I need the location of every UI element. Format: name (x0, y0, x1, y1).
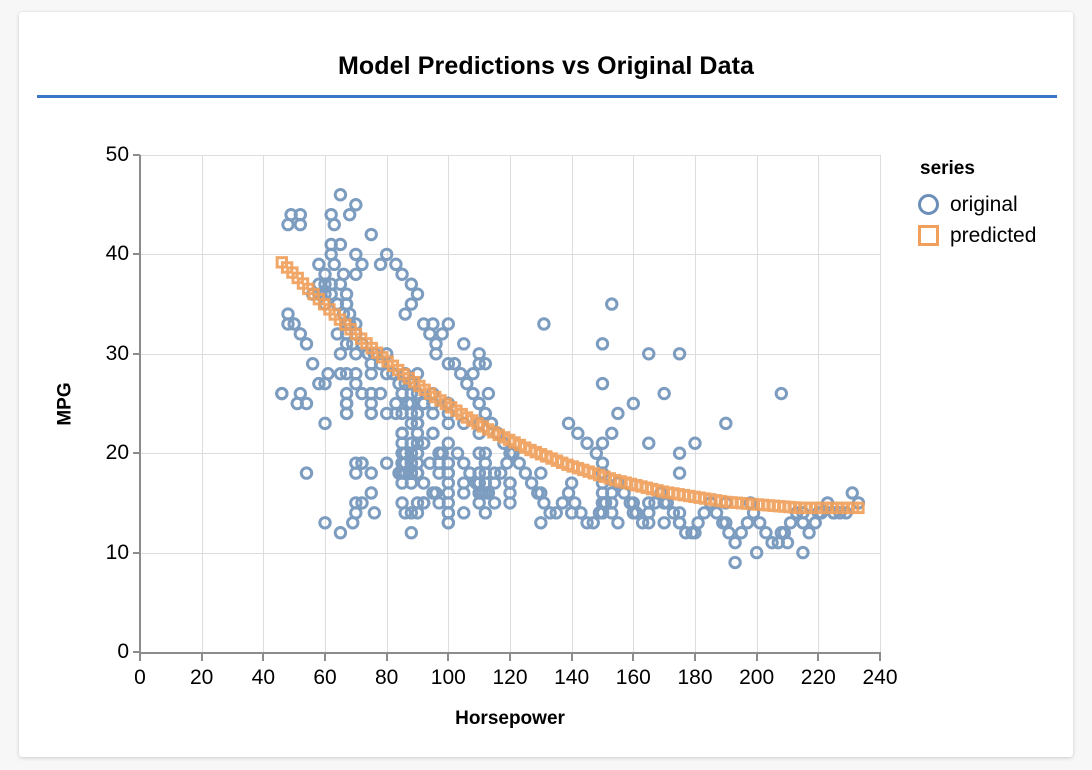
x-axis-tick (817, 654, 819, 661)
x-axis-tick (509, 654, 511, 661)
x-axis-tick (756, 654, 758, 661)
x-axis-tick-label: 140 (554, 666, 589, 690)
x-axis-tick (139, 654, 141, 661)
square-marker-icon (918, 225, 939, 246)
x-axis-tick (632, 654, 634, 661)
y-axis-title: MPG (55, 382, 77, 425)
legend-item-original[interactable]: original (918, 189, 1036, 220)
y-axis-tick (133, 452, 140, 454)
x-axis-tick (324, 654, 326, 661)
y-axis-tick (133, 154, 140, 156)
y-axis-tick-label: 50 (106, 143, 129, 167)
x-axis-tick (694, 654, 696, 661)
legend: series originalpredicted (918, 158, 1036, 251)
legend-item-label: predicted (950, 224, 1036, 248)
page-title: Model Predictions vs Original Data (19, 52, 1073, 81)
legend-item-predicted[interactable]: predicted (918, 220, 1036, 251)
gridline-vertical (880, 155, 881, 652)
x-axis-tick-label: 100 (431, 666, 466, 690)
x-axis-tick (571, 654, 573, 661)
x-axis-tick-label: 160 (616, 666, 651, 690)
x-axis-tick-label: 40 (252, 666, 275, 690)
y-axis-tick-label: 40 (106, 242, 129, 266)
title-divider (37, 95, 1057, 98)
data-markers (140, 155, 880, 652)
circle-marker-icon (918, 194, 939, 215)
y-axis-tick-label: 10 (106, 541, 129, 565)
x-axis-tick-label: 240 (862, 666, 897, 690)
x-axis-tick-label: 20 (190, 666, 213, 690)
chart-card: Model Predictions vs Original Data 01020… (19, 12, 1073, 757)
x-axis-tick-label: 0 (134, 666, 146, 690)
y-axis-tick (133, 651, 140, 653)
x-axis-tick (879, 654, 881, 661)
legend-items: originalpredicted (918, 189, 1036, 251)
x-axis-title: Horsepower (140, 708, 880, 730)
x-axis-tick (447, 654, 449, 661)
y-axis-tick (133, 353, 140, 355)
x-axis-tick-label: 120 (492, 666, 527, 690)
x-axis-tick-label: 80 (375, 666, 398, 690)
x-axis-tick-label: 220 (801, 666, 836, 690)
x-axis-tick-label: 180 (677, 666, 712, 690)
x-axis-tick-label: 200 (739, 666, 774, 690)
plot-area: 0102030405002040608010012014016018020022… (140, 155, 880, 652)
x-axis-tick (386, 654, 388, 661)
y-axis-tick-label: 20 (106, 441, 129, 465)
x-axis-tick (201, 654, 203, 661)
x-axis-tick-label: 60 (313, 666, 336, 690)
y-axis-tick-label: 30 (106, 342, 129, 366)
y-axis-tick (133, 253, 140, 255)
y-axis-tick-label: 0 (117, 640, 129, 664)
legend-title: series (920, 158, 1036, 180)
legend-item-label: original (950, 193, 1018, 217)
x-axis-tick (262, 654, 264, 661)
y-axis-tick (133, 552, 140, 554)
